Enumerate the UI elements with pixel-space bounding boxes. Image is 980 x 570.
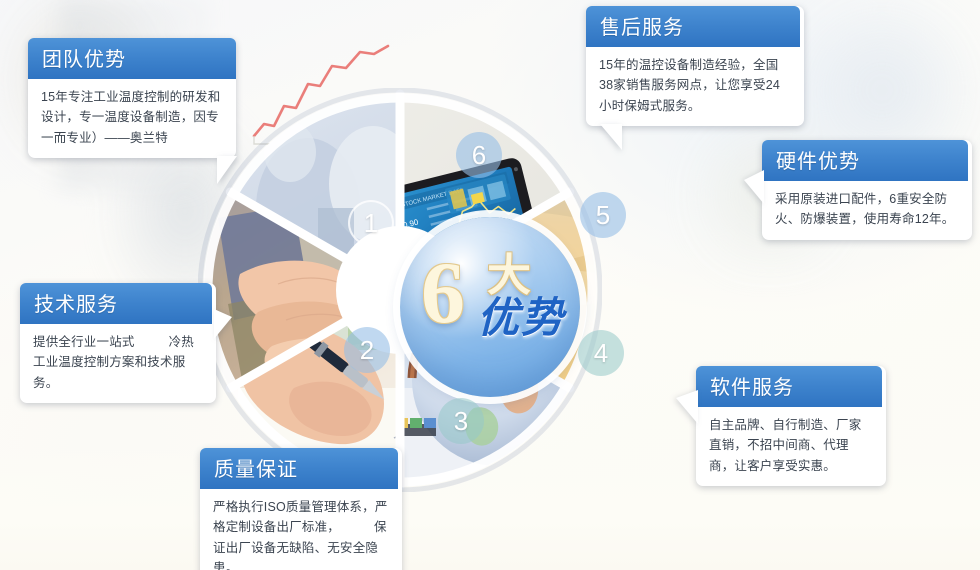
callout-hardware-advantage[interactable]: 硬件优势 采用原装进口配件，6重安全防火、防爆装置，使用寿命12年。 xyxy=(762,140,972,240)
callout-technical-tail xyxy=(214,309,232,339)
callout-after-sales[interactable]: 售后服务 15年的温控设备制造经验，全国38家销售服务网点，让您享受24小时保姆… xyxy=(586,6,804,126)
callout-team-advantage[interactable]: 团队优势 15年专注工业温度控制的研发和设计，专一温度设备制造，因专一而专业）—… xyxy=(28,38,236,158)
callout-after-sales-body: 15年的温控设备制造经验，全国38家销售服务网点，让您享受24小时保姆式服务。 xyxy=(586,47,804,126)
center-label: 优势 xyxy=(477,298,565,340)
center-badge-inner: 6 大 优势 xyxy=(415,252,565,362)
callout-hardware-body: 采用原装进口配件，6重安全防火、防爆装置，使用寿命12年。 xyxy=(762,181,972,240)
callout-team-title: 团队优势 xyxy=(28,38,236,79)
segment-marker-6-label: 6 xyxy=(472,140,486,171)
segment-marker-2[interactable]: 2 xyxy=(344,327,390,373)
callout-quality-body-part1: 严格执行ISO质量管理体系，严格定制设备出厂标准， xyxy=(213,500,388,534)
segment-marker-3-label: 3 xyxy=(454,406,468,437)
callout-after-sales-title: 售后服务 xyxy=(586,6,800,47)
callout-technical-service[interactable]: 技术服务 提供全行业一站式冷热工业温度控制方案和技术服务。 xyxy=(20,283,216,403)
center-unit: 大 xyxy=(487,254,531,298)
callout-quality-body: 严格执行ISO质量管理体系，严格定制设备出厂标准，保证出厂设备无缺陷、无安全隐患… xyxy=(200,489,402,570)
segment-marker-4-label: 4 xyxy=(594,338,608,369)
callout-software-body: 自主品牌、自行制造、厂家直销，不招中间商、代理商，让客户享受实惠。 xyxy=(696,407,886,486)
segment-marker-5[interactable]: 5 xyxy=(580,192,626,238)
segment-marker-3[interactable]: 3 xyxy=(438,398,484,444)
callout-team-body: 15年专注工业温度控制的研发和设计，专一温度设备制造，因专一而专业）——奥兰特 xyxy=(28,79,236,158)
segment-marker-1[interactable]: 1 xyxy=(348,200,394,246)
segment-marker-4[interactable]: 4 xyxy=(578,330,624,376)
callout-quality-guarantee[interactable]: 质量保证 严格执行ISO质量管理体系，严格定制设备出厂标准，保证出厂设备无缺陷、… xyxy=(200,448,402,570)
center-badge: 6 大 优势 xyxy=(400,217,580,397)
segment-marker-1-label: 1 xyxy=(364,208,378,239)
segment-marker-5-label: 5 xyxy=(596,200,610,231)
callout-technical-title: 技术服务 xyxy=(20,283,212,324)
callout-software-title: 软件服务 xyxy=(696,366,882,407)
callout-hardware-title: 硬件优势 xyxy=(762,140,968,181)
callout-hardware-tail xyxy=(744,170,764,204)
callout-technical-body: 提供全行业一站式冷热工业温度控制方案和技术服务。 xyxy=(20,324,216,403)
callout-software-service[interactable]: 软件服务 自主品牌、自行制造、厂家直销，不招中间商、代理商，让客户享受实惠。 xyxy=(696,366,886,486)
infographic-stage: STOCK MARKET DATA INTC 440.90 xyxy=(0,0,980,570)
callout-software-tail xyxy=(676,390,698,424)
segment-marker-6[interactable]: 6 xyxy=(456,132,502,178)
callout-after-sales-tail xyxy=(600,124,622,150)
segment-marker-2-label: 2 xyxy=(360,335,374,366)
callout-team-tail xyxy=(217,156,237,184)
callout-technical-body-part1: 提供全行业一站式 xyxy=(33,335,135,349)
center-number: 6 xyxy=(421,250,465,338)
callout-quality-title: 质量保证 xyxy=(200,448,398,489)
